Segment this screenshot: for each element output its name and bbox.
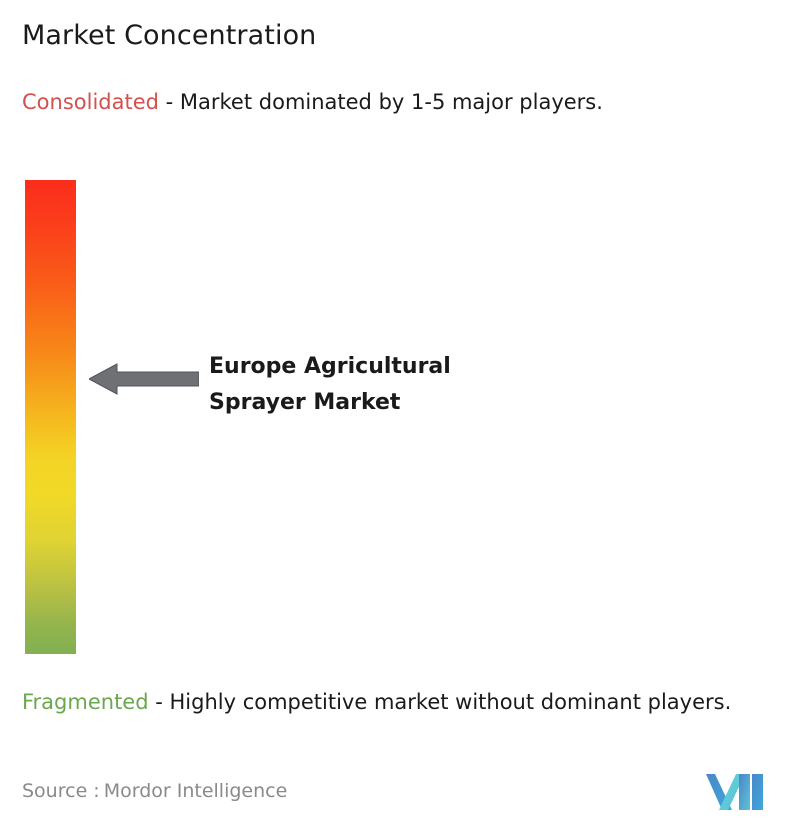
concentration-gradient-bar	[25, 180, 76, 654]
legend-label-consolidated: Consolidated	[22, 90, 159, 114]
source-value: Mordor Intelligence	[104, 780, 288, 802]
source-attribution: Source :Mordor Intelligence	[22, 780, 287, 802]
page-title: Market Concentration	[22, 20, 316, 51]
legend-description-consolidated: - Market dominated by 1-5 major players.	[159, 90, 603, 114]
marker-label-line-2: Sprayer Market	[209, 385, 539, 421]
source-label: Source :	[22, 780, 100, 802]
marker-label-line-1: Europe Agricultural	[209, 349, 539, 385]
mordor-intelligence-logo	[706, 768, 768, 816]
market-concentration-chart: Market Concentration Consolidated - Mark…	[0, 0, 796, 834]
marker-label-europe-agricultural-sprayer-market: Europe Agricultural Sprayer Market	[209, 349, 539, 421]
legend-description-fragmented: - Highly competitive market without domi…	[149, 690, 732, 714]
left-arrow-icon	[89, 362, 199, 396]
legend-label-fragmented: Fragmented	[22, 690, 149, 714]
legend-fragmented: Fragmented - Highly competitive market w…	[22, 686, 792, 718]
legend-consolidated: Consolidated - Market dominated by 1-5 m…	[22, 86, 762, 118]
